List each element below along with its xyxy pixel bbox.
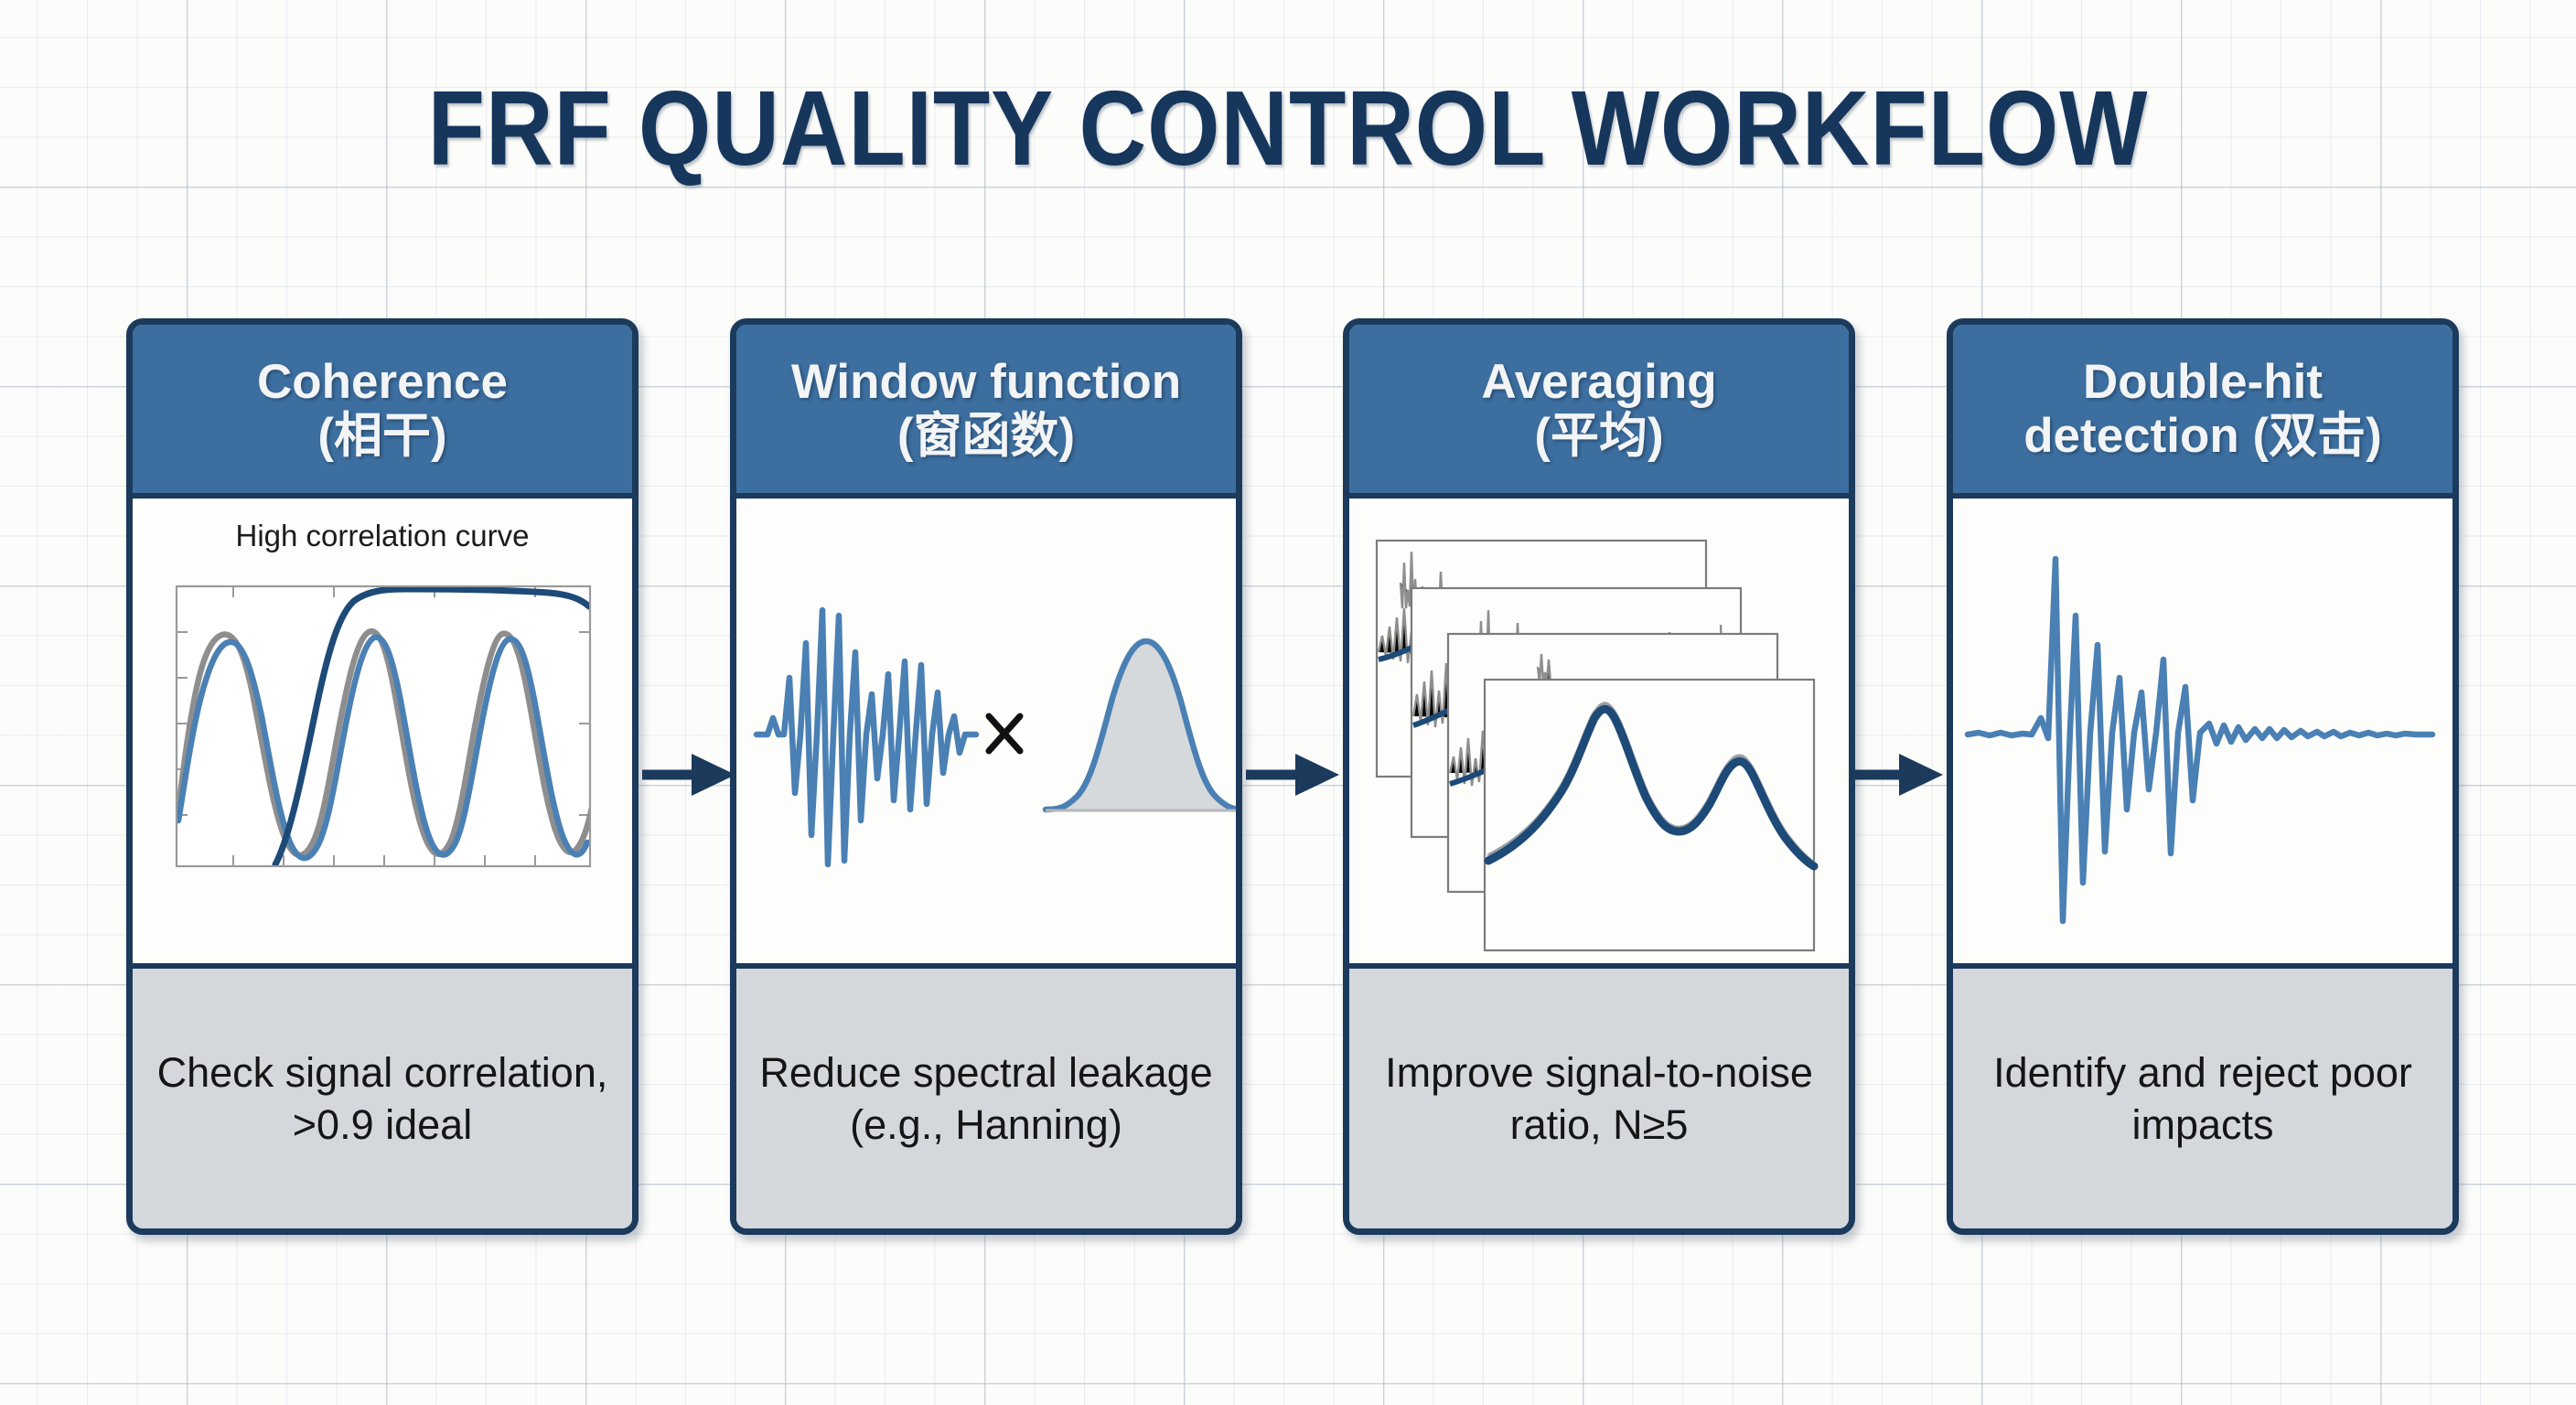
arrow-window-to-averaging (1244, 748, 1343, 801)
card-footer-averaging: Improve signal-to-noise ratio, N≥5 (1349, 969, 1849, 1230)
card-footer-text: Identify and reject poor impacts (1970, 1047, 2436, 1151)
card-footer-double-hit: Identify and reject poor impacts (1953, 969, 2453, 1230)
stacked-spectra-chart (1349, 499, 1849, 969)
arrow-coherence-to-window (640, 748, 739, 801)
card-illustration-double-hit (1953, 499, 2453, 969)
card-title-zh: (窗函数) (897, 409, 1075, 463)
arrow-right-icon (640, 748, 739, 801)
card-averaging[interactable]: Averaging (平均) (1343, 318, 1855, 1235)
arrow-right-icon (1244, 748, 1343, 801)
spectrum-panel-front-averaged (1485, 680, 1814, 950)
card-title-zh: (相干) (317, 409, 446, 463)
plot-caption: High correlation curve (133, 519, 632, 553)
card-header-coherence: Coherence (相干) (133, 325, 632, 499)
card-title-zh: detection (双击) (2023, 409, 2382, 463)
burst-times-hanning-chart (736, 499, 1236, 969)
card-double-hit-detection[interactable]: Double-hit detection (双击) Identify and r… (1947, 318, 2459, 1235)
card-title-en: Averaging (1481, 355, 1716, 409)
card-window-function[interactable]: Window function (窗函数) Reduce spectral le… (730, 318, 1242, 1235)
multiply-icon (989, 716, 1020, 751)
card-title-en: Coherence (257, 355, 508, 409)
card-title-en: Window function (791, 355, 1181, 409)
card-footer-text: Reduce spectral leakage (e.g., Hanning) (753, 1047, 1219, 1151)
card-illustration-window-function (736, 499, 1236, 969)
arrow-averaging-to-double-hit (1848, 748, 1947, 801)
page-title: FRF QUALITY CONTROL WORKFLOW (155, 75, 2421, 181)
card-footer-coherence: Check signal correlation, >0.9 ideal (133, 969, 632, 1230)
double-impulse-chart (1953, 499, 2453, 969)
card-footer-text: Improve signal-to-noise ratio, N≥5 (1366, 1047, 1832, 1151)
card-footer-text: Check signal correlation, >0.9 ideal (149, 1047, 616, 1151)
card-illustration-averaging (1349, 499, 1849, 969)
card-header-averaging: Averaging (平均) (1349, 325, 1849, 499)
coherence-chart (133, 499, 632, 969)
card-title-zh: (平均) (1534, 409, 1663, 463)
card-header-window-function: Window function (窗函数) (736, 325, 1236, 499)
card-header-double-hit-detection: Double-hit detection (双击) (1953, 325, 2453, 499)
card-illustration-coherence: High correlation curve (133, 499, 632, 969)
card-footer-window-function: Reduce spectral leakage (e.g., Hanning) (736, 969, 1236, 1230)
card-title-en: Double-hit (2083, 355, 2323, 409)
arrow-right-icon (1848, 748, 1947, 801)
card-coherence[interactable]: Coherence (相干) High correlation curve (126, 318, 639, 1235)
infographic-canvas: FRF QUALITY CONTROL WORKFLOW Coherence (… (0, 0, 2576, 1405)
